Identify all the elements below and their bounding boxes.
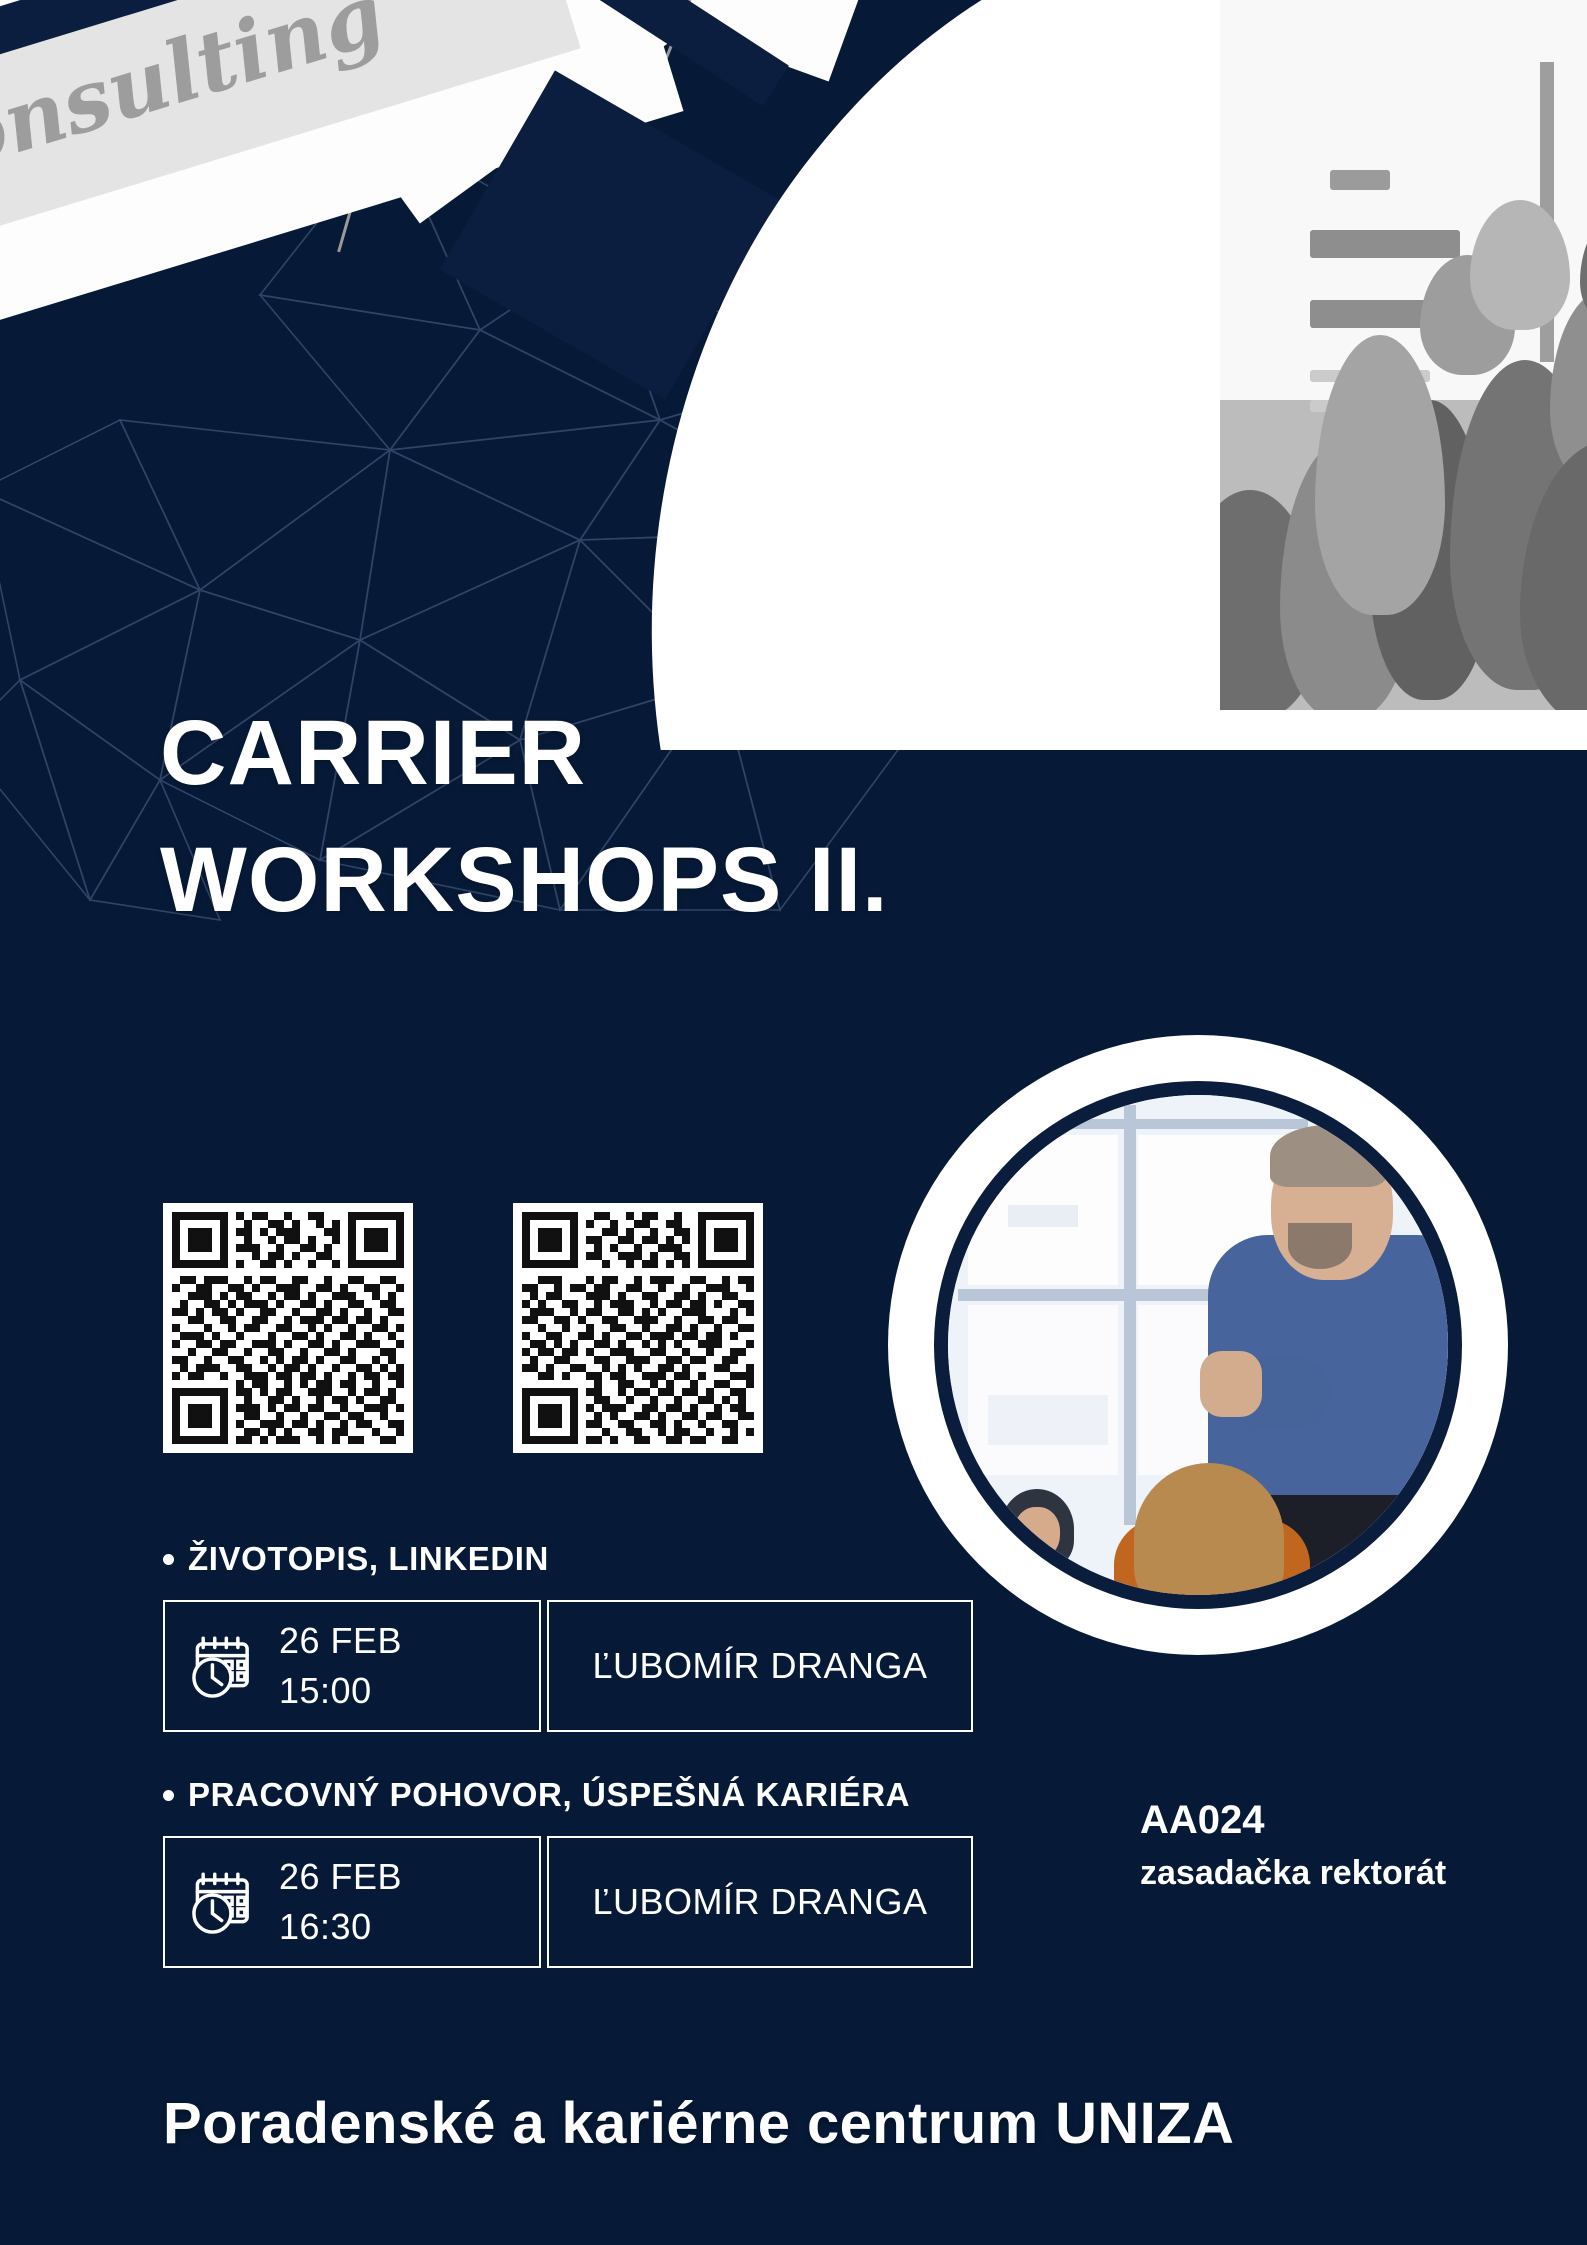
qr-code-2-image xyxy=(522,1212,754,1444)
speaker-portrait-image xyxy=(948,1095,1448,1595)
poster-title-line-2: WORKSHOPS II. xyxy=(160,817,1180,944)
session-speaker-2: ĽUBOMÍR DRANGA xyxy=(592,1881,927,1923)
session-datetime-1: 26 FEB 15:00 xyxy=(163,1600,541,1732)
session-box-1: 26 FEB 15:00 ĽUBOMÍR DRANGA xyxy=(163,1600,973,1732)
poster-title-line-1: CARRIER xyxy=(160,690,1180,817)
audience-photo-content xyxy=(1220,0,1587,710)
session-datetime-2: 26 FEB 16:30 xyxy=(163,1836,541,1968)
calendar-clock-icon xyxy=(187,1865,261,1939)
bullet-dot-icon xyxy=(163,1790,174,1801)
qr-code-group xyxy=(163,1203,763,1453)
sessions-section: ŽIVOTOPIS, LINKEDIN xyxy=(0,1540,1587,1968)
venue-room-name: zasadačka rektorát xyxy=(1140,1849,1446,1897)
session-box-2: 26 FEB 16:30 ĽUBOMÍR DRANGA xyxy=(163,1836,973,1968)
session-speaker-1: ĽUBOMÍR DRANGA xyxy=(592,1645,927,1687)
qr-code-1[interactable] xyxy=(163,1203,413,1453)
qr-code-1-image xyxy=(172,1212,404,1444)
session-speaker-cell-1: ĽUBOMÍR DRANGA xyxy=(547,1600,973,1732)
session-speaker-cell-2: ĽUBOMÍR DRANGA xyxy=(547,1836,973,1968)
session-date-1: 26 FEB xyxy=(279,1623,402,1659)
venue-room-code: AA024 xyxy=(1140,1792,1446,1849)
organizer-footer: Poradenské a kariérne centrum UNIZA xyxy=(163,2090,1234,2157)
bullet-dot-icon xyxy=(163,1554,174,1565)
session-topic-1-label: ŽIVOTOPIS, LINKEDIN xyxy=(188,1540,549,1578)
qr-code-2[interactable] xyxy=(513,1203,763,1453)
session-topic-1: ŽIVOTOPIS, LINKEDIN xyxy=(163,1540,1587,1578)
session-time-1: 15:00 xyxy=(279,1673,402,1709)
speaker-portrait-inner-ring xyxy=(934,1081,1462,1609)
session-time-2: 16:30 xyxy=(279,1909,402,1945)
session-topic-2-label: PRACOVNÝ POHOVOR, ÚSPEŠNÁ KARIÉRA xyxy=(188,1776,910,1814)
session-date-2: 26 FEB xyxy=(279,1859,402,1895)
calendar-clock-icon xyxy=(187,1629,261,1703)
poster-title: CARRIER WORKSHOPS II. xyxy=(160,690,1180,944)
venue-block: AA024 zasadačka rektorát xyxy=(1140,1792,1446,1897)
poster: consulting xyxy=(0,0,1587,2245)
